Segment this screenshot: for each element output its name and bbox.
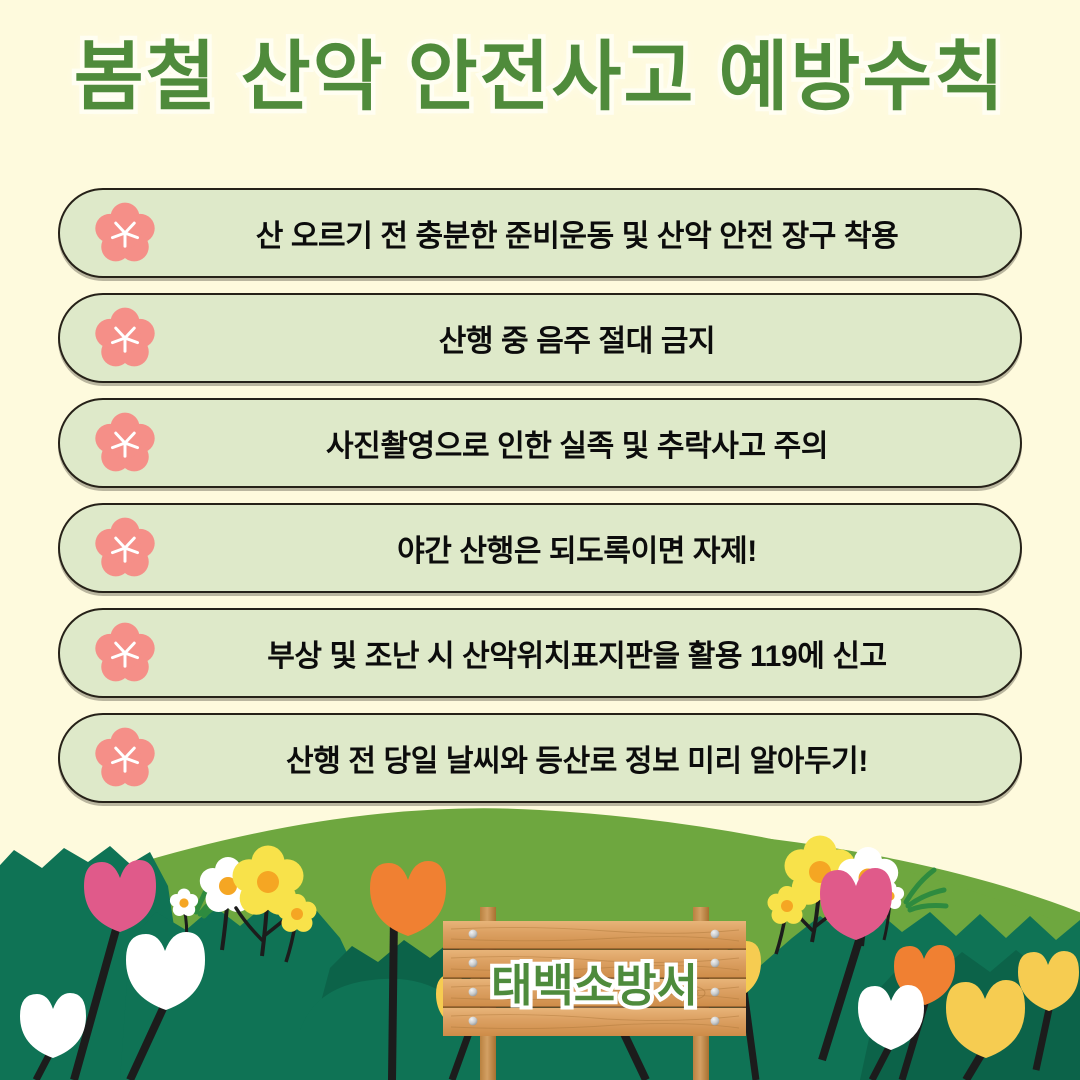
tip-label: 산행 중 음주 절대 금지 xyxy=(60,316,1020,360)
tips-list: 산 오르기 전 충분한 준비운동 및 산악 안전 장구 착용 xyxy=(58,188,1022,818)
plum-blossom-icon xyxy=(92,620,158,686)
list-item[interactable]: 야간 산행은 되도록이면 자제! xyxy=(58,503,1022,593)
plum-blossom-icon xyxy=(92,725,158,791)
title-area: 봄철 산악 안전사고 예방수칙 xyxy=(0,34,1080,121)
tip-label: 사진촬영으로 인한 실족 및 추락사고 주의 xyxy=(60,421,1020,465)
tip-label: 산 오르기 전 충분한 준비운동 및 산악 안전 장구 착용 xyxy=(60,211,1020,255)
list-item[interactable]: 사진촬영으로 인한 실족 및 추락사고 주의 xyxy=(58,398,1022,488)
list-item[interactable]: 산행 중 음주 절대 금지 xyxy=(58,293,1022,383)
poster-canvas: 봄철 산악 안전사고 예방수칙 xyxy=(0,0,1080,1080)
wooden-signboard: 태백소방서 xyxy=(437,905,752,1080)
page-title: 봄철 산악 안전사고 예방수칙 xyxy=(74,34,1006,121)
plum-blossom-icon xyxy=(92,410,158,476)
list-item[interactable]: 산행 전 당일 날씨와 등산로 정보 미리 알아두기! xyxy=(58,713,1022,803)
sign-planks xyxy=(443,921,746,1036)
list-item[interactable]: 산 오르기 전 충분한 준비운동 및 산악 안전 장구 착용 xyxy=(58,188,1022,278)
list-item[interactable]: 부상 및 조난 시 산악위치표지판을 활용 119에 신고 xyxy=(58,608,1022,698)
plum-blossom-icon xyxy=(92,515,158,581)
tip-label: 부상 및 조난 시 산악위치표지판을 활용 119에 신고 xyxy=(60,631,1020,675)
plum-blossom-icon xyxy=(92,305,158,371)
tip-label: 야간 산행은 되도록이면 자제! xyxy=(60,526,1020,570)
tip-label: 산행 전 당일 날씨와 등산로 정보 미리 알아두기! xyxy=(60,736,1020,780)
plum-blossom-icon xyxy=(92,200,158,266)
